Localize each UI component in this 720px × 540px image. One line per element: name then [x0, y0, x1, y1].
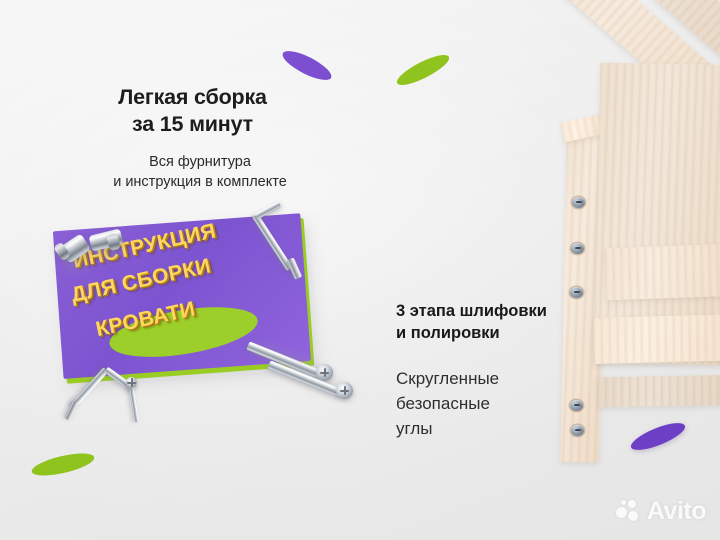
avito-dot-medium — [628, 500, 636, 508]
screw-head-3 — [570, 287, 583, 298]
avito-wordmark: Avito — [647, 497, 706, 526]
feature-corners-line-3: углы — [396, 416, 626, 441]
listing-image-canvas: Легкая сборка за 15 минут Вся фурнитура … — [0, 0, 720, 540]
feature-corners-line-2: безопасные — [396, 391, 626, 416]
subheadline: Вся фурнитура и инструкция в комплекте — [0, 152, 400, 192]
screw-head-2 — [571, 243, 584, 254]
avito-dots-logo-icon — [616, 499, 642, 525]
long-screw-b-head — [336, 382, 353, 399]
feature-text-rounded-corners: Скругленные безопасные углы — [396, 366, 626, 441]
feature-text-sanding: 3 этапа шлифовки и полировки — [396, 300, 626, 344]
wood-slat-mid — [605, 244, 720, 301]
feature-sanding-line-2: и полировки — [396, 322, 626, 344]
feature-sanding-line-1: 3 этапа шлифовки — [396, 300, 626, 322]
pine-bed-frame — [540, 0, 720, 540]
headline-line-2: за 15 минут — [0, 111, 385, 138]
headline: Легкая сборка за 15 минут — [0, 84, 385, 138]
card-title-line-3: КРОВАТИ — [94, 297, 198, 342]
avito-dot-small — [621, 500, 626, 505]
subheadline-line-1: Вся фурнитура — [0, 152, 400, 172]
feature-corners-line-1: Скругленные — [396, 366, 626, 391]
screw-head-1 — [572, 197, 585, 208]
avito-dot-medium-2 — [628, 511, 638, 521]
bolt-lower-left-head — [126, 377, 137, 388]
avito-watermark: Avito — [616, 497, 706, 526]
headline-line-1: Легкая сборка — [0, 84, 385, 111]
subheadline-line-2: и инструкция в комплекте — [0, 172, 400, 192]
avito-dot-large — [616, 507, 627, 518]
